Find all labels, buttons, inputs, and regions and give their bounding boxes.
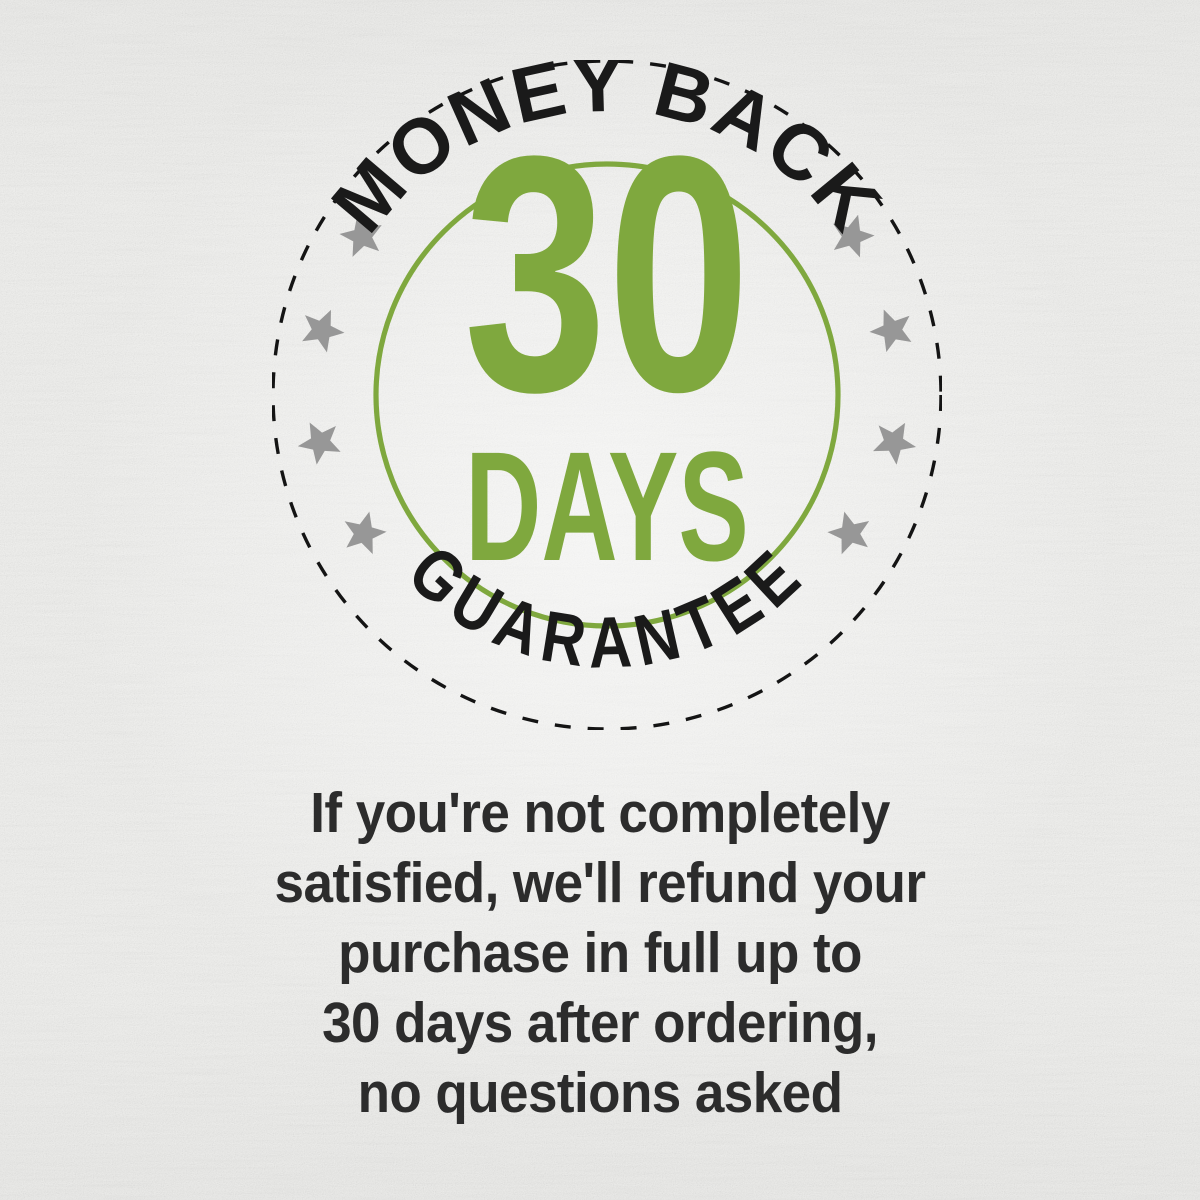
guarantee-line-3: purchase in full up to [42,918,1158,988]
star-icon [866,412,924,469]
guarantee-line-2: satisfied, we'll refund your [42,848,1158,918]
guarantee-line-1: If you're not completely [42,778,1158,848]
badge-number: 30 [464,87,751,462]
money-back-guarantee-badge: MONEY BACK GUARANTEE 30 DAYS [272,60,942,730]
star-icon [339,506,391,556]
guarantee-line-4: 30 days after ordering, [42,988,1158,1058]
guarantee-badge-image: MONEY BACK GUARANTEE 30 DAYS If you're n… [0,0,1200,1200]
star-icon [291,412,348,468]
star-icon [864,301,919,355]
guarantee-description: If you're not completely satisfied, we'l… [42,778,1158,1128]
star-icon [823,506,875,556]
star-icon [295,301,351,356]
guarantee-line-5: no questions asked [42,1058,1158,1128]
badge-unit: DAYS [465,421,749,594]
